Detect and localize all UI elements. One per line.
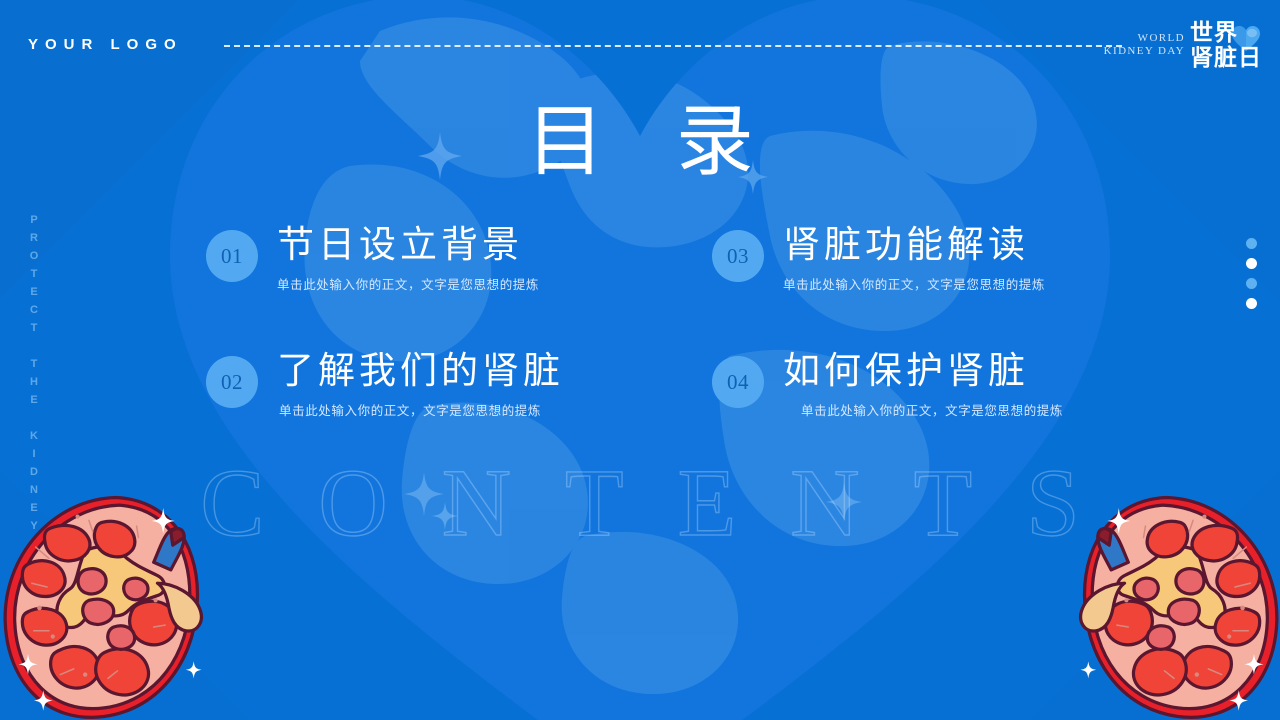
- brand-chinese: 世界 肾脏日: [1190, 20, 1262, 70]
- toc-subtitle: 单击此处输入你的正文，文字是您思想的提炼: [279, 400, 541, 419]
- world-kidney-day-logo: WORLD KIDNEY DAY 世界 肾脏日: [1104, 14, 1262, 76]
- nav-dot-2[interactable]: [1246, 258, 1257, 269]
- header-divider: [224, 45, 1122, 48]
- brand-cn-line1: 世界: [1190, 20, 1262, 45]
- toc-number-badge: 01: [206, 230, 258, 282]
- toc-subtitle: 单击此处输入你的正文，文字是您思想的提炼: [801, 400, 1063, 419]
- toc-item-01[interactable]: 01 节日设立背景 单击此处输入你的正文，文字是您思想的提炼: [206, 222, 712, 348]
- brand-english: WORLD KIDNEY DAY: [1104, 32, 1185, 59]
- toc-item-03[interactable]: 03 肾脏功能解读 单击此处输入你的正文，文字是您思想的提炼: [712, 222, 1106, 348]
- kidney-cross-section-left: [0, 488, 224, 720]
- page-title: 目 录: [0, 103, 1280, 181]
- toc-number-badge: 03: [712, 230, 764, 282]
- toc-title: 节日设立背景: [277, 222, 539, 267]
- slide-root: CONTENTS YOUR LOGO WORLD KIDNEY DAY 世界 肾…: [0, 0, 1280, 720]
- toc-number-badge: 02: [206, 356, 258, 408]
- toc-number-badge: 04: [712, 356, 764, 408]
- toc-number: 03: [727, 244, 749, 269]
- toc-number: 01: [221, 244, 243, 269]
- slide-dot-nav[interactable]: [1246, 238, 1257, 309]
- table-of-contents: 01 节日设立背景 单击此处输入你的正文，文字是您思想的提炼 03 肾脏功能解读…: [206, 222, 1106, 474]
- toc-subtitle: 单击此处输入你的正文，文字是您思想的提炼: [783, 274, 1045, 293]
- toc-title: 了解我们的肾脏: [277, 348, 564, 393]
- brand-en-line1: WORLD: [1138, 32, 1185, 45]
- kidney-cross-section-right: [1058, 488, 1280, 720]
- toc-text-group: 节日设立背景 单击此处输入你的正文，文字是您思想的提炼: [277, 222, 539, 293]
- nav-dot-3[interactable]: [1246, 278, 1257, 289]
- brand-cn-line2: 肾脏日: [1190, 45, 1262, 70]
- toc-item-04[interactable]: 04 如何保护肾脏 单击此处输入你的正文，文字是您思想的提炼: [712, 348, 1106, 474]
- toc-number: 02: [221, 370, 243, 395]
- nav-dot-4[interactable]: [1246, 298, 1257, 309]
- toc-text-group: 了解我们的肾脏 单击此处输入你的正文，文字是您思想的提炼: [277, 348, 564, 419]
- toc-title: 如何保护肾脏: [783, 348, 1063, 393]
- nav-dot-1[interactable]: [1246, 238, 1257, 249]
- brand-en-line2: KIDNEY DAY: [1104, 45, 1185, 58]
- toc-number: 04: [727, 370, 749, 395]
- logo-text[interactable]: YOUR LOGO: [28, 36, 183, 53]
- toc-title: 肾脏功能解读: [783, 222, 1045, 267]
- toc-text-group: 如何保护肾脏 单击此处输入你的正文，文字是您思想的提炼: [783, 348, 1063, 419]
- toc-subtitle: 单击此处输入你的正文，文字是您思想的提炼: [277, 274, 539, 293]
- toc-text-group: 肾脏功能解读 单击此处输入你的正文，文字是您思想的提炼: [783, 222, 1045, 293]
- toc-item-02[interactable]: 02 了解我们的肾脏 单击此处输入你的正文，文字是您思想的提炼: [206, 348, 712, 474]
